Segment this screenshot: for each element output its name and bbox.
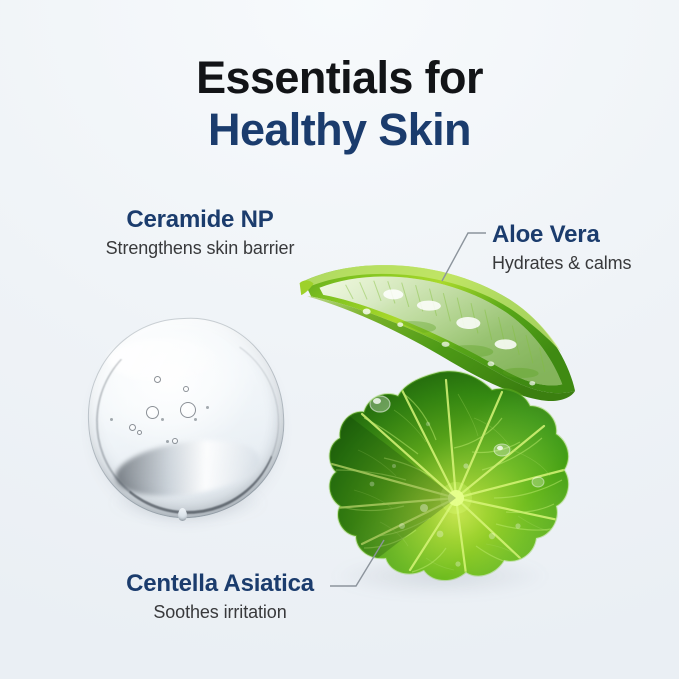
gel-bubble — [154, 376, 161, 383]
infographic-canvas: Essentials for Healthy Skin — [0, 0, 679, 679]
centella-leaf — [306, 358, 574, 606]
gel-bubble — [110, 418, 113, 421]
ingredient-benefit-centella: Soothes irritation — [0, 602, 440, 623]
ingredient-name-centella: Centella Asiatica — [0, 570, 440, 598]
gel-bubble — [172, 438, 178, 444]
ingredient-name-aloe: Aloe Vera — [492, 221, 631, 249]
gel-bubble — [146, 406, 159, 419]
ingredient-label-centella: Centella Asiatica Soothes irritation — [0, 570, 440, 623]
gel-drip — [178, 508, 187, 521]
ingredient-label-aloe: Aloe Vera Hydrates & calms — [492, 221, 631, 274]
gel-bubble — [180, 402, 196, 418]
title-line-2: Healthy Skin — [0, 107, 679, 153]
gel-bubble — [194, 418, 197, 421]
gel-bubble — [161, 418, 164, 421]
page-title: Essentials for Healthy Skin — [0, 55, 679, 153]
ingredient-label-ceramide: Ceramide NP Strengthens skin barrier — [0, 206, 400, 259]
title-line-1: Essentials for — [0, 55, 679, 101]
centella-leaf-illustration — [306, 358, 574, 606]
gel-bubble — [183, 386, 189, 392]
gel-bubble — [206, 406, 209, 409]
gel-bubble — [129, 424, 136, 431]
ingredient-benefit-aloe: Hydrates & calms — [492, 253, 631, 274]
ceramide-gel-droplet — [88, 318, 284, 518]
ingredient-name-ceramide: Ceramide NP — [0, 206, 400, 234]
gel-bubble — [166, 440, 169, 443]
leaf-body — [306, 358, 574, 606]
gel-rim-shadow — [81, 315, 293, 528]
ingredient-benefit-ceramide: Strengthens skin barrier — [0, 238, 400, 259]
gel-bubble — [137, 430, 142, 435]
